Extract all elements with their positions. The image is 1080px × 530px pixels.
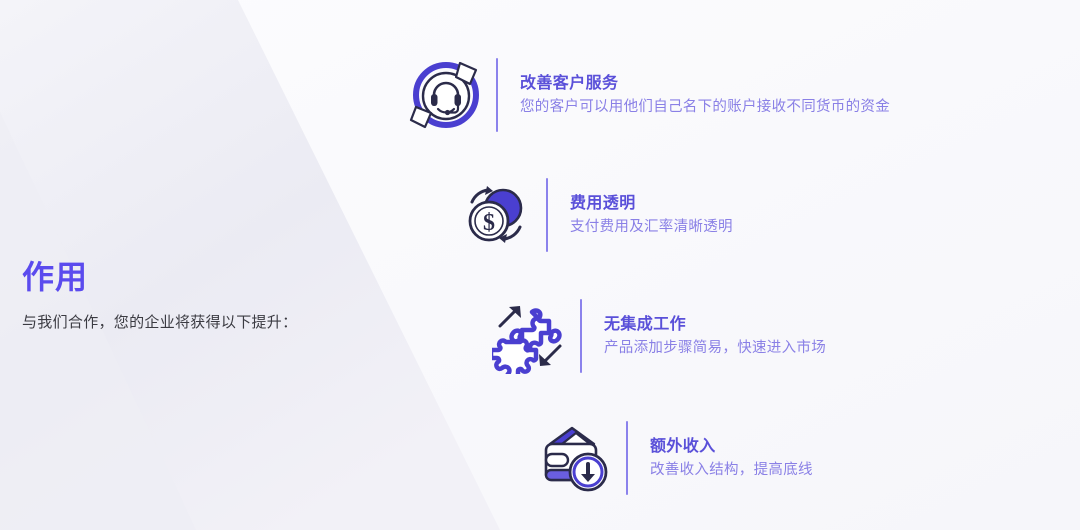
page-subtitle: 与我们合作，您的企业将获得以下提升： <box>22 312 352 333</box>
feature-item[interactable]: $ 费用透明 支付费用及汇率清晰透明 <box>458 177 733 253</box>
feature-text-block: 费用透明 支付费用及汇率清晰透明 <box>570 193 733 237</box>
feature-divider-rule <box>546 178 548 252</box>
puzzle-pieces-arrows-icon <box>492 298 568 374</box>
left-panel: 作用 与我们合作，您的企业将获得以下提升： <box>22 258 352 333</box>
feature-text-block: 改善客户服务 您的客户可以用他们自己名下的账户接收不同货币的资金 <box>520 73 890 117</box>
feature-divider-rule <box>496 58 498 132</box>
feature-item[interactable]: 改善客户服务 您的客户可以用他们自己名下的账户接收不同货币的资金 <box>408 57 890 133</box>
feature-description: 产品添加步骤简易，快速进入市场 <box>604 339 826 359</box>
feature-description: 您的客户可以用他们自己名下的账户接收不同货币的资金 <box>520 98 890 118</box>
feature-divider-rule <box>580 299 582 373</box>
feature-item[interactable]: 无集成工作 产品添加步骤简易，快速进入市场 <box>492 298 826 374</box>
page-title: 作用 <box>22 258 352 296</box>
feature-item[interactable]: 额外收入 改善收入结构，提高底线 <box>538 420 813 496</box>
feature-title: 额外收入 <box>650 436 813 458</box>
wallet-download-icon <box>538 420 614 496</box>
feature-divider-rule <box>626 421 628 495</box>
feature-text-block: 无集成工作 产品添加步骤简易，快速进入市场 <box>604 314 826 358</box>
dollar-coins-exchange-icon: $ <box>458 177 534 253</box>
feature-title: 改善客户服务 <box>520 73 890 95</box>
slide-canvas: 作用 与我们合作，您的企业将获得以下提升： 改善客户服务 您的客户可以用他们自己… <box>0 0 1080 530</box>
feature-description: 改善收入结构，提高底线 <box>650 461 813 481</box>
svg-text:$: $ <box>483 210 495 236</box>
customer-service-headset-icon <box>408 57 484 133</box>
feature-text-block: 额外收入 改善收入结构，提高底线 <box>650 436 813 480</box>
feature-title: 无集成工作 <box>604 314 826 336</box>
feature-title: 费用透明 <box>570 193 733 215</box>
feature-description: 支付费用及汇率清晰透明 <box>570 218 733 238</box>
